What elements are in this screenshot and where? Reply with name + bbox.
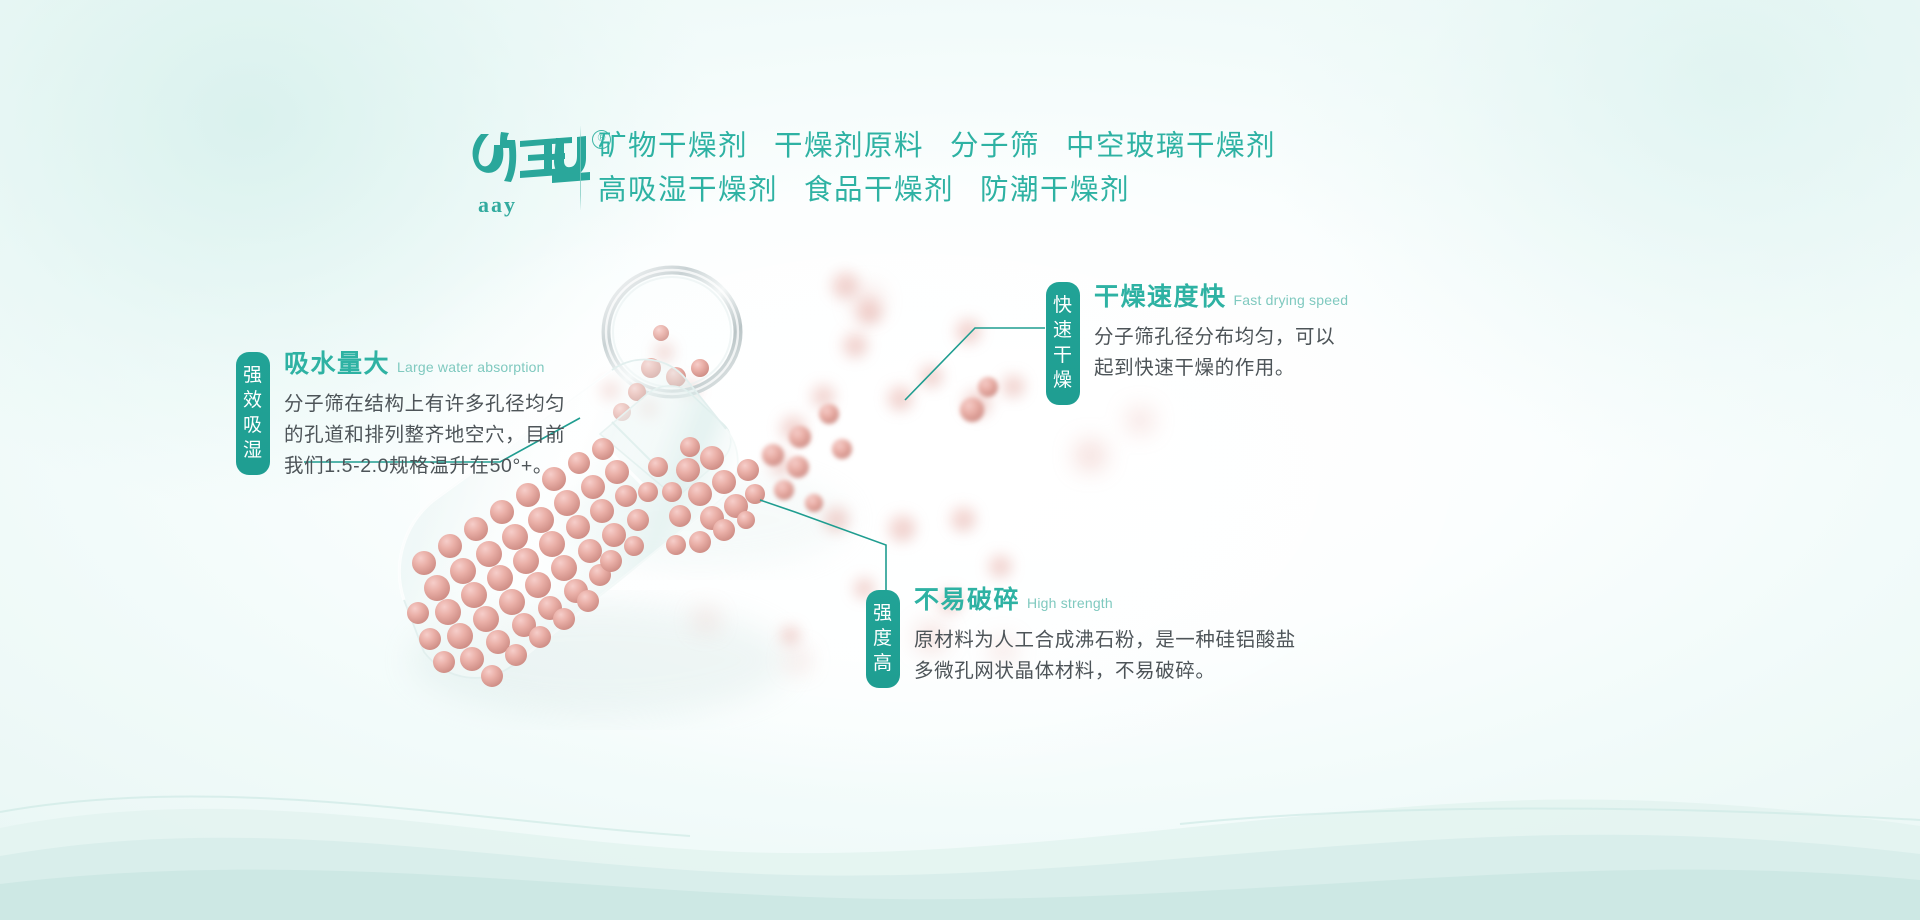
badge-char: 吸 bbox=[236, 413, 270, 438]
callout-subtitle: High strength bbox=[1027, 595, 1113, 611]
nav-item-insulating-glass-desiccant[interactable]: 中空玻璃干燥剂 bbox=[1066, 124, 1276, 168]
brand-logo[interactable]: ® aay bbox=[468, 128, 608, 220]
yaya-brand-logo-icon bbox=[468, 128, 594, 190]
nav-item-molecular-sieve[interactable]: 分子筛 bbox=[950, 124, 1040, 168]
nav-item-food-desiccant[interactable]: 食品干燥剂 bbox=[804, 168, 954, 212]
header-divider bbox=[580, 126, 581, 210]
nav-item-desiccant-material[interactable]: 干燥剂原料 bbox=[774, 124, 924, 168]
callout-fast-drying-speed: 快 速 干 燥 干燥速度快 Fast drying speed 分子筛孔径分布均… bbox=[1046, 277, 1348, 384]
callout-title: 干燥速度快 bbox=[1094, 277, 1227, 313]
callout-body: 分子筛孔径分布均匀，可以 起到快速干燥的作用。 bbox=[1094, 322, 1348, 384]
logo-wordmark: aay bbox=[478, 192, 517, 218]
badge-char: 强 bbox=[236, 363, 270, 388]
badge-char: 燥 bbox=[1046, 368, 1080, 393]
callout-title: 吸水量大 bbox=[284, 344, 390, 380]
badge-char: 速 bbox=[1046, 318, 1080, 343]
callout-heading: 干燥速度快 Fast drying speed bbox=[1094, 277, 1348, 313]
keyword-nav: 矿物干燥剂 干燥剂原料 分子筛 中空玻璃干燥剂 高吸湿干燥剂 食品干燥剂 防潮干… bbox=[598, 124, 1276, 212]
product-banner: ® aay 矿物干燥剂 干燥剂原料 分子筛 中空玻璃干燥剂 高吸湿干燥剂 食品干… bbox=[0, 0, 1920, 920]
badge-strong-moisture-absorption: 强 效 吸 湿 bbox=[236, 352, 270, 475]
decorative-waves bbox=[0, 660, 1920, 920]
callout-heading: 吸水量大 Large water absorption bbox=[284, 344, 565, 380]
callout-large-water-absorption: 强 效 吸 湿 吸水量大 Large water absorption 分子筛在… bbox=[236, 344, 565, 482]
beads-scattered bbox=[762, 377, 998, 512]
badge-char: 湿 bbox=[236, 438, 270, 463]
keyword-nav-row-1: 矿物干燥剂 干燥剂原料 分子筛 中空玻璃干燥剂 bbox=[598, 124, 1276, 168]
keyword-nav-row-2: 高吸湿干燥剂 食品干燥剂 防潮干燥剂 bbox=[598, 168, 1276, 212]
nav-item-moisture-proof-desiccant[interactable]: 防潮干燥剂 bbox=[980, 168, 1130, 212]
beads-spilling bbox=[662, 437, 765, 555]
badge-char: 快 bbox=[1046, 293, 1080, 318]
callout-subtitle: Fast drying speed bbox=[1234, 292, 1349, 308]
callout-subtitle: Large water absorption bbox=[397, 359, 545, 375]
badge-fast-drying: 快 速 干 燥 bbox=[1046, 282, 1080, 405]
nav-item-mineral-desiccant[interactable]: 矿物干燥剂 bbox=[598, 124, 748, 168]
callout-heading: 不易破碎 High strength bbox=[914, 580, 1296, 616]
badge-char: 强 bbox=[866, 601, 900, 626]
badge-char: 干 bbox=[1046, 343, 1080, 368]
badge-char: 度 bbox=[866, 626, 900, 651]
nav-item-high-absorption-desiccant[interactable]: 高吸湿干燥剂 bbox=[598, 168, 778, 212]
metal-ring-lid bbox=[606, 270, 738, 394]
badge-char: 效 bbox=[236, 388, 270, 413]
banner-header: ® aay 矿物干燥剂 干燥剂原料 分子筛 中空玻璃干燥剂 高吸湿干燥剂 食品干… bbox=[0, 0, 1920, 250]
callout-body: 分子筛在结构上有许多孔径均匀 的孔道和排列整齐地空穴，目前 我们1.5-2.0规… bbox=[284, 389, 565, 482]
callout-title: 不易破碎 bbox=[914, 580, 1020, 616]
